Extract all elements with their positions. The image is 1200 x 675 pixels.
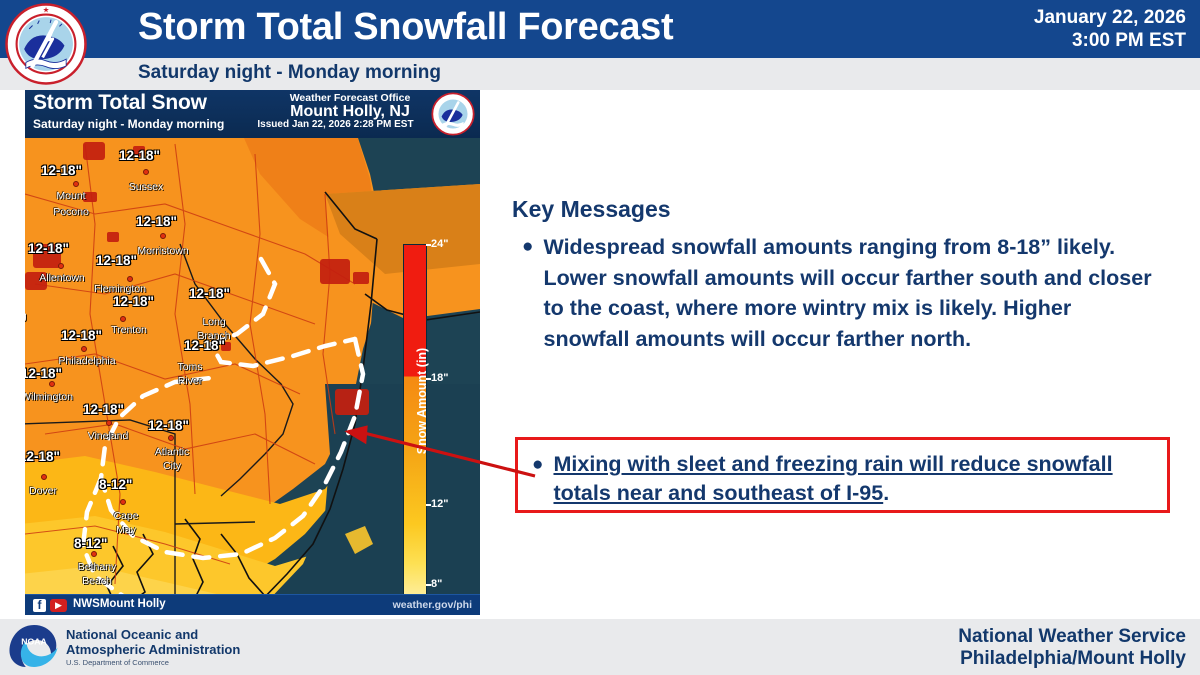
map-title: Storm Total Snow: [33, 91, 207, 115]
footer-agency-name: National Weather Service: [958, 626, 1186, 648]
city-label: Bethany: [67, 561, 127, 573]
key-messages-heading: Key Messages: [512, 196, 671, 223]
page-title: Storm Total Snowfall Forecast: [138, 6, 673, 49]
city-label: Dover: [25, 485, 73, 497]
city-label: Wilmington: [25, 391, 77, 403]
key-message-2-text: Mixing with sleet and freezing rain will…: [553, 452, 1112, 505]
header-date-line: January 22, 2026: [1034, 6, 1186, 29]
city-marker-dot: [91, 551, 97, 557]
city-label: Pocono: [41, 206, 101, 218]
header-time-line: 3:00 PM EST: [1034, 29, 1186, 52]
city-label: Mount: [41, 190, 101, 202]
snow-amount-label: 12-18": [96, 253, 137, 268]
noaa-line-1: National Oceanic and: [66, 627, 198, 642]
page-footer: NOAA National Oceanic and Atmospheric Ad…: [0, 617, 1200, 675]
nws-seal-icon: [430, 92, 476, 136]
city-marker-dot: [73, 181, 79, 187]
city-label: Cape: [96, 510, 156, 522]
city-marker-dot: [168, 435, 174, 441]
key-message-1-text: Widespread snowfall amounts ranging from…: [543, 232, 1162, 354]
city-label: Vineland: [78, 430, 138, 442]
weather-gov-url[interactable]: weather.gov/phi: [393, 599, 472, 611]
city-label: Trenton: [99, 324, 159, 336]
noaa-line-2: Atmospheric Administration: [66, 642, 240, 657]
city-label: Reading: [25, 310, 37, 322]
city-label: Branch: [184, 330, 244, 342]
footer-office-name: Philadelphia/Mount Holly: [960, 648, 1186, 670]
map-subtitle: Saturday night - Monday morning: [33, 117, 224, 131]
snow-amount-label: 12-18": [25, 449, 60, 464]
city-label: Sussex: [116, 181, 176, 193]
key-message-bullet-2: ● Mixing with sleet and freezing rain wi…: [532, 450, 1157, 508]
city-label: May: [96, 524, 156, 536]
snow-amount-label: 12-18": [28, 241, 69, 256]
key-message-bullet-1: ● Widespread snowfall amounts ranging fr…: [522, 232, 1162, 354]
colorbar-tick-24: 24": [431, 238, 448, 250]
city-label: Flemington: [90, 283, 150, 295]
city-marker-dot: [81, 346, 87, 352]
city-label: City: [142, 460, 202, 472]
colorbar-tick-8: 8": [431, 578, 442, 590]
city-marker-dot: [160, 233, 166, 239]
colorbar-tick-18: 18": [431, 372, 448, 384]
city-marker-dot: [120, 499, 126, 505]
city-marker-dot: [106, 420, 112, 426]
city-marker-dot: [143, 169, 149, 175]
header-timestamp: January 22, 2026 3:00 PM EST: [1034, 6, 1186, 52]
map-graphic: Snow Amount (in) 24" 18" 12" 8" 6" 12-18…: [25, 134, 480, 594]
bullet-marker-icon: ●: [522, 232, 533, 354]
city-label: Morristown: [133, 245, 193, 257]
city-marker-dot: [58, 263, 64, 269]
snow-amount-label: 12-18": [136, 214, 177, 229]
city-label: Philadelphia: [57, 355, 117, 367]
snow-amount-label: 12-18": [148, 418, 189, 433]
nws-seal-icon: ★: [4, 2, 88, 86]
city-label: Atlantic: [142, 446, 202, 458]
city-label: Toms: [160, 361, 220, 373]
highlighted-message-box: ● Mixing with sleet and freezing rain wi…: [515, 437, 1170, 513]
snow-amount-label: 8-12": [99, 477, 132, 492]
svg-text:NOAA: NOAA: [21, 636, 47, 646]
key-message-2-wrapper: Mixing with sleet and freezing rain will…: [553, 450, 1157, 508]
footer-divider: [0, 617, 1200, 619]
city-label: Allentown: [32, 272, 92, 284]
snow-amount-label: 12-18": [41, 163, 82, 178]
city-marker-dot: [41, 474, 47, 480]
snow-amount-label: 12-18": [25, 366, 62, 381]
noaa-line-3: U.S. Department of Commerce: [66, 658, 169, 667]
city-label: Long: [184, 316, 244, 328]
facebook-icon[interactable]: f: [33, 599, 46, 612]
snow-amount-label: 12-18": [83, 402, 124, 417]
snow-amount-label: 8-12": [74, 536, 107, 551]
snowfall-map-panel[interactable]: Snow Amount (in) 24" 18" 12" 8" 6" 12-18…: [25, 90, 480, 615]
colorbar-tick-12: 12": [431, 498, 448, 510]
map-header: Storm Total Snow Saturday night - Monday…: [25, 90, 480, 138]
map-issued: Issued Jan 22, 2026 2:28 PM EST: [243, 119, 428, 130]
map-footer-bar: f ▶ NWSMount Holly weather.gov/phi: [25, 594, 480, 615]
snow-amount-label: 12-18": [189, 286, 230, 301]
callout-arrow-icon: [330, 418, 540, 488]
page-subtitle: Saturday night - Monday morning: [138, 62, 441, 84]
snow-amount-label: 12-18": [113, 294, 154, 309]
snow-amount-label: 12-18": [61, 328, 102, 343]
youtube-icon[interactable]: ▶: [50, 599, 67, 612]
social-handle[interactable]: NWSMount Holly: [73, 598, 166, 610]
city-marker-dot: [120, 316, 126, 322]
city-marker-dot: [127, 276, 133, 282]
city-label: River: [160, 375, 220, 387]
city-marker-dot: [49, 381, 55, 387]
snow-amount-label: 12-18": [119, 148, 160, 163]
city-label: Beach: [67, 575, 127, 587]
noaa-logo-icon: NOAA: [8, 623, 60, 669]
key-message-2-period: .: [883, 481, 889, 505]
svg-text:★: ★: [42, 7, 49, 14]
